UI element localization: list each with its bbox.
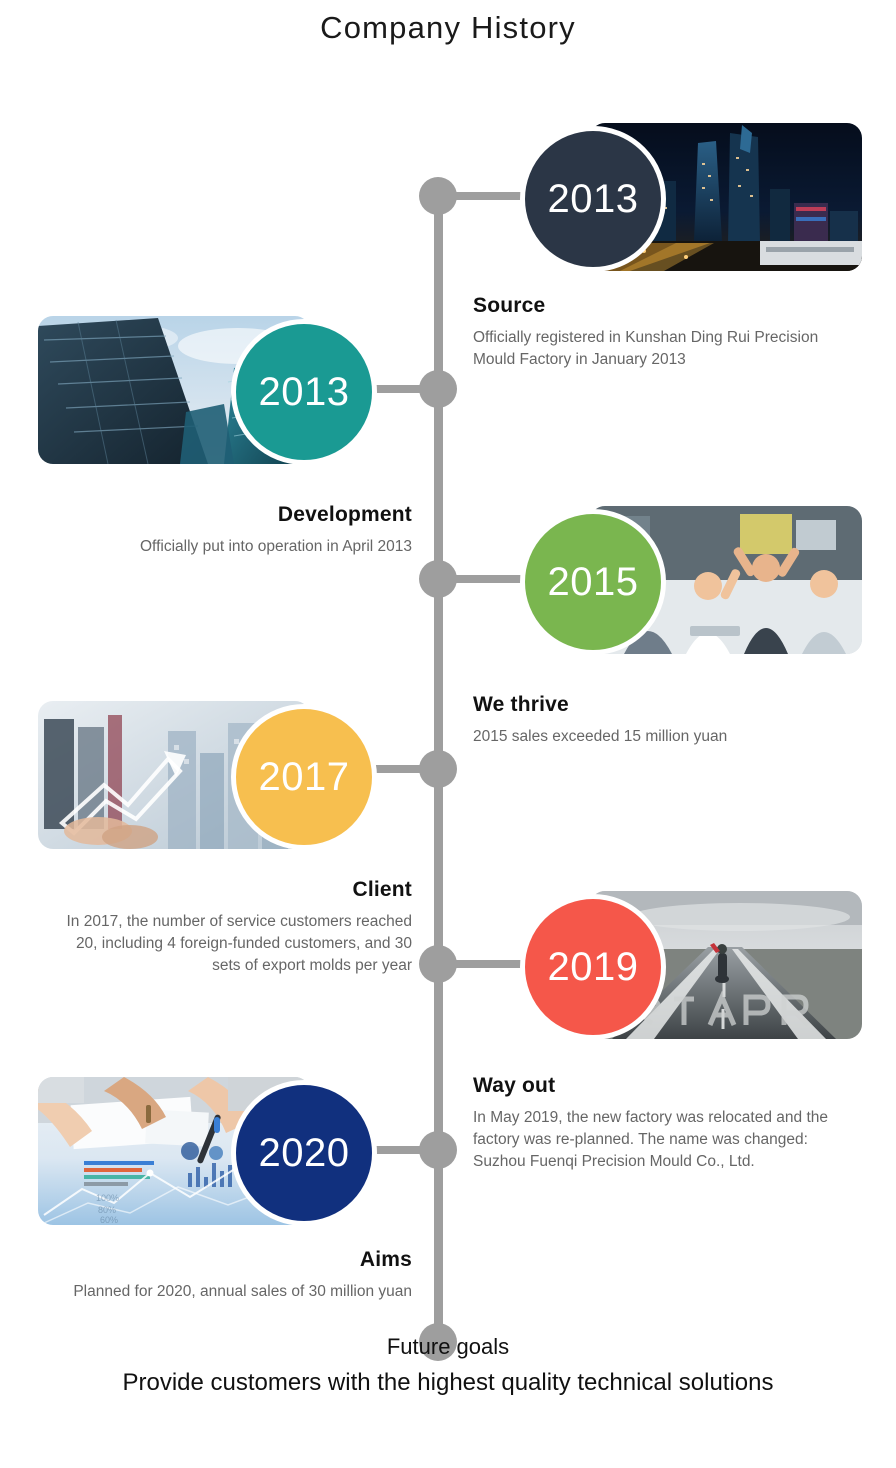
entry-heading: Aims — [44, 1248, 412, 1272]
year-label: 2015 — [548, 560, 639, 605]
year-label: 2020 — [259, 1131, 350, 1176]
svg-text:60%: 60% — [100, 1215, 118, 1225]
entry-text-source: Source Officially registered in Kunshan … — [473, 294, 833, 371]
timeline-node-4[interactable] — [419, 750, 457, 788]
year-badge-2015[interactable]: 2015 — [520, 509, 666, 655]
year-badge-2019[interactable]: 2019 — [520, 894, 666, 1040]
entry-description: In May 2019, the new factory was relocat… — [473, 1107, 835, 1173]
page-title: Company History — [0, 0, 896, 48]
year-badge-2020[interactable]: 2020 — [231, 1080, 377, 1226]
entry-description: Officially put into operation in April 2… — [60, 536, 412, 558]
year-label: 2019 — [548, 945, 639, 990]
svg-text:100%: 100% — [96, 1193, 119, 1203]
entry-description: 2015 sales exceeded 15 million yuan — [473, 726, 833, 748]
timeline-node-6[interactable] — [419, 1131, 457, 1169]
timeline-node-3[interactable] — [419, 560, 457, 598]
entry-heading: Development — [60, 503, 412, 527]
connector-stub-3 — [455, 575, 527, 583]
timeline: 2013 Source Officially registered in Kun… — [0, 48, 896, 1308]
entry-text-client: Client In 2017, the number of service cu… — [60, 878, 412, 977]
footer-line-1: Future goals — [0, 1330, 896, 1364]
entry-heading: Client — [60, 878, 412, 902]
timeline-node-1[interactable] — [419, 177, 457, 215]
svg-text:80%: 80% — [98, 1205, 116, 1215]
entry-description: Officially registered in Kunshan Ding Ru… — [473, 327, 833, 371]
entry-text-we-thrive: We thrive 2015 sales exceeded 15 million… — [473, 693, 833, 748]
timeline-node-5[interactable] — [419, 945, 457, 983]
timeline-node-2[interactable] — [419, 370, 457, 408]
entry-text-aims: Aims Planned for 2020, annual sales of 3… — [44, 1248, 412, 1303]
year-label: 2017 — [259, 755, 350, 800]
year-badge-2013-a[interactable]: 2013 — [520, 126, 666, 272]
entry-description: Planned for 2020, annual sales of 30 mil… — [44, 1281, 412, 1303]
entry-heading: We thrive — [473, 693, 833, 717]
footer: Future goals Provide customers with the … — [0, 1330, 896, 1402]
connector-stub-5 — [455, 960, 527, 968]
entry-heading: Source — [473, 294, 833, 318]
entry-description: In 2017, the number of service customers… — [60, 911, 412, 977]
footer-line-2: Provide customers with the highest quali… — [0, 1364, 896, 1402]
connector-stub-1 — [455, 192, 527, 200]
entry-text-way-out: Way out In May 2019, the new factory was… — [473, 1074, 835, 1173]
year-badge-2017[interactable]: 2017 — [231, 704, 377, 850]
year-label: 2013 — [548, 177, 639, 222]
entry-heading: Way out — [473, 1074, 835, 1098]
year-badge-2013-b[interactable]: 2013 — [231, 319, 377, 465]
year-label: 2013 — [259, 370, 350, 415]
entry-text-development: Development Officially put into operatio… — [60, 503, 412, 558]
